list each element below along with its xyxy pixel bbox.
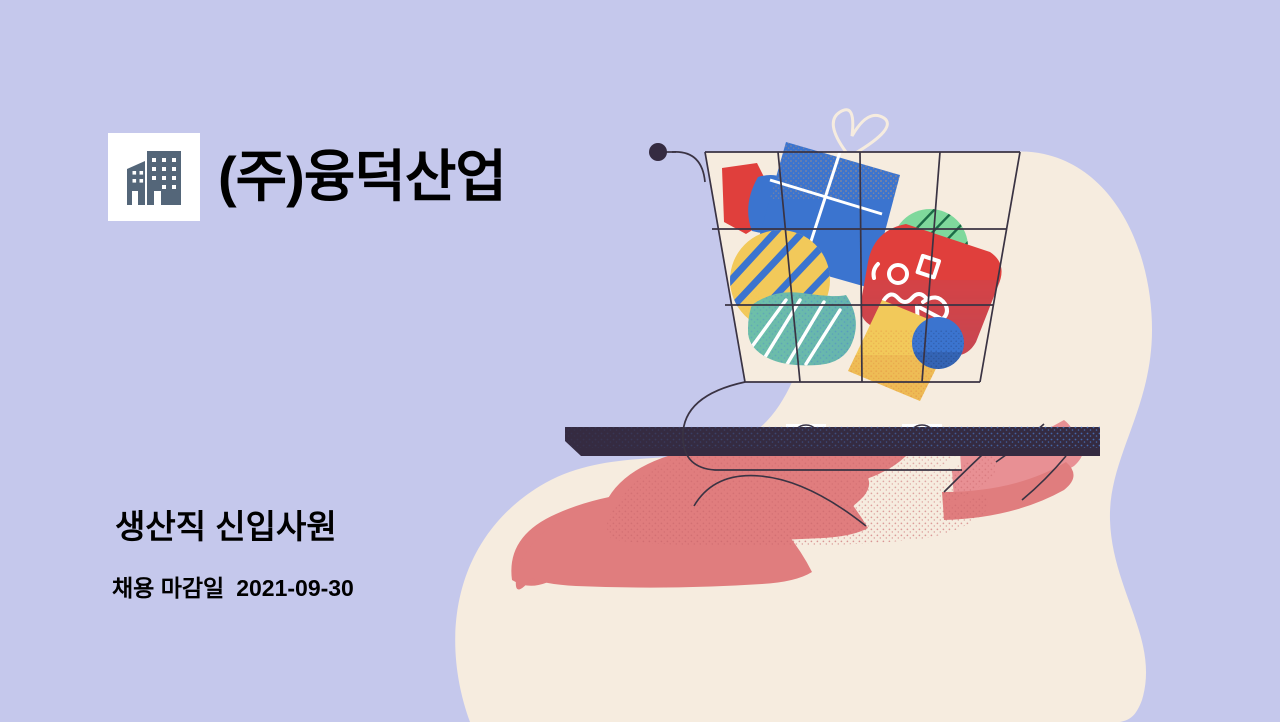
shopping-cart-illustration [0,0,1280,722]
cart-item-blue-gift-box [750,110,910,290]
gift-bow [833,110,887,154]
finger-mid [952,436,1083,500]
cart-wheel-right [908,425,936,450]
cart-wheels [786,424,942,450]
job-posting-card: (주)융덕산업 생산직 신입사원 채용 마감일 2021-09-30 [0,0,1280,722]
cart-item-yellow-orange-diamond [845,300,960,405]
cart-item-blue-navy-circle [910,317,968,374]
job-title: 생산직 신입사원 [115,507,337,547]
knuckle-line-2 [944,438,1000,492]
arm-silhouette [516,470,869,590]
cart-item-green-blue-blob [745,290,860,380]
cart-wheel-left [792,425,820,450]
hand-group [500,420,1120,620]
company-header: (주)융덕산업 [108,133,506,221]
cart-handle-knob [649,143,667,161]
cart-item-green-striped-circle [892,208,970,286]
office-building-icon [125,149,183,205]
company-logo [108,133,200,221]
memphis-glyphs [874,256,948,338]
finger-near [942,462,1074,520]
cart-item-yellow-striped-circle [722,216,838,352]
shopping-cart [649,110,1020,470]
knuckle-line-3 [996,424,1044,462]
cream-blob [455,152,1152,722]
cart-item-red-memphis-box [850,220,1010,370]
cart-items [715,110,1010,405]
shelf-bar [565,426,1105,456]
finger-far [960,420,1074,482]
cart-handle [649,143,705,182]
card-background [0,0,1280,722]
deadline-row: 채용 마감일 2021-09-30 [112,575,354,603]
knuckle-line-4 [1022,456,1066,500]
deadline-date: 2021-09-30 [236,575,354,603]
knuckle-line-1 [694,476,866,526]
cart-item-blue-rounded [748,175,795,233]
hand-speckle [500,440,1120,620]
palm [600,426,916,541]
cart-basket-fill [705,152,1020,382]
forearm [511,490,672,586]
cart-wireframe [683,152,1020,470]
company-name: (주)융덕산업 [218,149,506,205]
deadline-label: 채용 마감일 [112,575,224,603]
cart-item-red-orange-gradient [715,158,775,242]
